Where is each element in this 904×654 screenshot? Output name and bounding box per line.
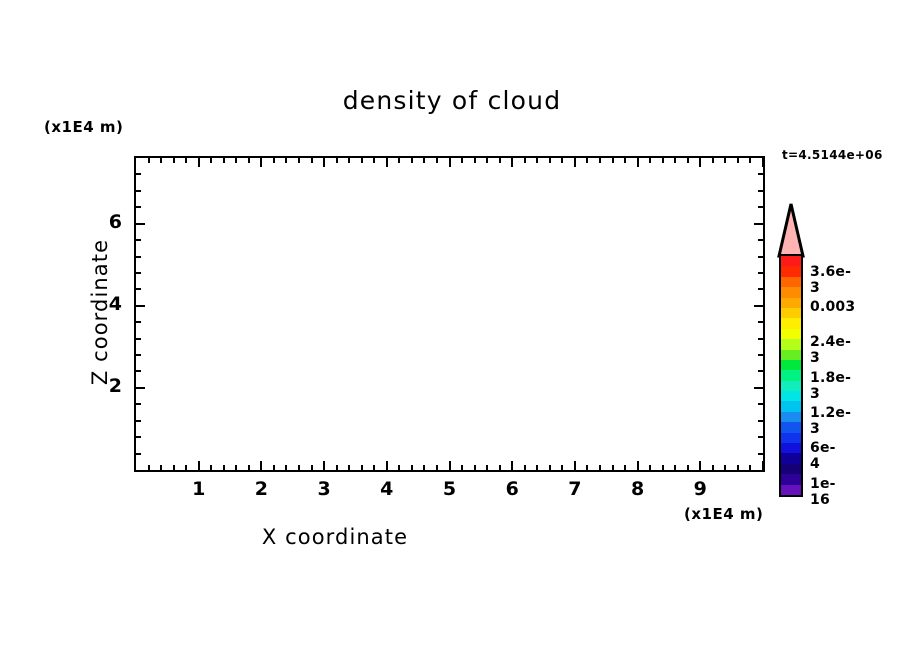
- tick-mark: [136, 305, 145, 307]
- colorbar-band: [781, 474, 801, 484]
- tick-mark: [348, 465, 350, 470]
- tick-mark: [136, 436, 141, 438]
- colorbar-band: [781, 443, 801, 453]
- tick-mark: [423, 158, 425, 163]
- x-tick-label: 5: [430, 478, 470, 500]
- x-axis-unit-label: (x1E4 m): [684, 505, 763, 523]
- x-tick-label: 8: [618, 478, 658, 500]
- tick-mark: [561, 158, 563, 163]
- tick-mark: [758, 436, 763, 438]
- tick-mark: [754, 305, 763, 307]
- tick-mark: [549, 158, 551, 163]
- tick-mark: [624, 158, 626, 163]
- tick-mark: [411, 158, 413, 163]
- colorbar-tick-label: 1.2e-3: [810, 405, 851, 437]
- tick-mark: [185, 158, 187, 163]
- tick-mark: [749, 465, 751, 470]
- y-tick-label: 4: [82, 293, 122, 315]
- figure-canvas: density of cloud (x1E4 m) (x1E4 m) t=4.5…: [0, 0, 904, 654]
- tick-mark: [248, 158, 250, 163]
- x-axis-title: X coordinate: [0, 525, 670, 549]
- colorbar-band: [781, 391, 801, 401]
- tick-mark: [758, 354, 763, 356]
- y-tick-label: 2: [82, 375, 122, 397]
- tick-mark: [758, 370, 763, 372]
- tick-mark: [223, 465, 225, 470]
- tick-mark: [754, 387, 763, 389]
- tick-mark: [173, 158, 175, 163]
- tick-mark: [198, 158, 200, 167]
- colorbar-tick-label: 2.4e-3: [810, 334, 851, 366]
- tick-mark: [758, 453, 763, 455]
- tick-mark: [336, 158, 338, 163]
- tick-mark: [136, 354, 141, 356]
- tick-mark: [724, 158, 726, 163]
- tick-mark: [649, 158, 651, 163]
- tick-mark: [586, 465, 588, 470]
- tick-mark: [687, 158, 689, 163]
- tick-mark: [260, 158, 262, 167]
- tick-mark: [436, 465, 438, 470]
- tick-mark: [136, 223, 145, 225]
- colorbar-band: [781, 277, 801, 287]
- tick-mark: [511, 461, 513, 470]
- tick-mark: [762, 461, 764, 470]
- tick-mark: [185, 465, 187, 470]
- tick-mark: [758, 206, 763, 208]
- tick-mark: [398, 158, 400, 163]
- tick-mark: [285, 158, 287, 163]
- tick-mark: [712, 158, 714, 163]
- tick-mark: [699, 158, 701, 167]
- colorbar-band: [781, 329, 801, 339]
- tick-mark: [260, 461, 262, 470]
- colorbar-tick-label: 3.6e-3: [810, 264, 851, 296]
- tick-mark: [511, 158, 513, 167]
- tick-mark: [148, 158, 150, 163]
- tick-mark: [136, 173, 141, 175]
- tick-mark: [724, 465, 726, 470]
- colorbar-band: [781, 256, 801, 266]
- colorbar-band: [781, 422, 801, 432]
- colorbar-band: [781, 287, 801, 297]
- tick-mark: [136, 453, 141, 455]
- tick-mark: [536, 465, 538, 470]
- x-tick-label: 9: [680, 478, 720, 500]
- tick-mark: [674, 465, 676, 470]
- tick-mark: [210, 465, 212, 470]
- time-annotation: t=4.5144e+06: [782, 148, 883, 162]
- colorbar-band: [781, 350, 801, 360]
- colorbar-band: [781, 485, 801, 495]
- tick-mark: [586, 158, 588, 163]
- x-tick-label: 4: [367, 478, 407, 500]
- tick-mark: [624, 465, 626, 470]
- tick-mark: [173, 465, 175, 470]
- plot-frame: [134, 156, 765, 472]
- colorbar-band: [781, 339, 801, 349]
- colorbar-band: [781, 266, 801, 276]
- tick-mark: [486, 465, 488, 470]
- tick-mark: [136, 190, 141, 192]
- y-axis-unit-label: (x1E4 m): [44, 118, 123, 136]
- tick-mark: [549, 465, 551, 470]
- tick-mark: [311, 465, 313, 470]
- colorbar-band: [781, 308, 801, 318]
- tick-mark: [599, 158, 601, 163]
- tick-mark: [612, 158, 614, 163]
- colorbar-band: [781, 401, 801, 411]
- colorbar-band: [781, 453, 801, 463]
- tick-mark: [373, 465, 375, 470]
- tick-mark: [148, 465, 150, 470]
- tick-mark: [273, 465, 275, 470]
- tick-mark: [561, 465, 563, 470]
- tick-mark: [198, 461, 200, 470]
- tick-mark: [311, 158, 313, 163]
- tick-mark: [599, 465, 601, 470]
- tick-mark: [136, 239, 141, 241]
- tick-mark: [758, 420, 763, 422]
- tick-mark: [758, 338, 763, 340]
- tick-mark: [758, 288, 763, 290]
- tick-mark: [461, 465, 463, 470]
- tick-mark: [699, 461, 701, 470]
- tick-mark: [574, 158, 576, 167]
- x-tick-label: 1: [179, 478, 219, 500]
- colorbar-tick-label: 0.003: [810, 299, 855, 315]
- tick-mark: [674, 158, 676, 163]
- tick-mark: [398, 465, 400, 470]
- tick-mark: [737, 158, 739, 163]
- tick-mark: [235, 465, 237, 470]
- tick-mark: [136, 370, 141, 372]
- colorbar-band: [781, 318, 801, 328]
- tick-mark: [449, 158, 451, 167]
- colorbar-band: [781, 381, 801, 391]
- x-tick-label: 6: [492, 478, 532, 500]
- tick-mark: [637, 158, 639, 167]
- tick-mark: [210, 158, 212, 163]
- x-tick-label: 3: [304, 478, 344, 500]
- tick-mark: [348, 158, 350, 163]
- tick-mark: [662, 158, 664, 163]
- colorbar-band: [781, 298, 801, 308]
- tick-mark: [574, 461, 576, 470]
- tick-mark: [486, 158, 488, 163]
- tick-mark: [758, 173, 763, 175]
- tick-mark: [474, 158, 476, 163]
- tick-mark: [737, 465, 739, 470]
- tick-mark: [223, 158, 225, 163]
- tick-mark: [248, 465, 250, 470]
- tick-mark: [136, 256, 141, 258]
- tick-mark: [637, 461, 639, 470]
- tick-mark: [373, 158, 375, 163]
- tick-mark: [758, 321, 763, 323]
- tick-mark: [323, 461, 325, 470]
- tick-mark: [423, 465, 425, 470]
- tick-mark: [649, 465, 651, 470]
- tick-mark: [323, 158, 325, 167]
- tick-mark: [449, 461, 451, 470]
- tick-mark: [136, 338, 141, 340]
- tick-mark: [758, 403, 763, 405]
- colorbar-band: [781, 370, 801, 380]
- tick-mark: [758, 190, 763, 192]
- tick-mark: [136, 387, 145, 389]
- tick-mark: [136, 288, 141, 290]
- colorbar-tick-label: 1.8e-3: [810, 370, 851, 402]
- tick-mark: [136, 321, 141, 323]
- x-tick-label: 7: [555, 478, 595, 500]
- y-tick-label: 6: [82, 211, 122, 233]
- colorbar-over-arrow-icon: [777, 202, 805, 258]
- tick-mark: [461, 158, 463, 163]
- tick-mark: [612, 465, 614, 470]
- tick-mark: [411, 465, 413, 470]
- colorbar-tick-label: 6e-4: [810, 440, 836, 472]
- tick-mark: [386, 461, 388, 470]
- tick-mark: [160, 158, 162, 163]
- colorbar-band: [781, 360, 801, 370]
- tick-mark: [499, 465, 501, 470]
- tick-mark: [662, 465, 664, 470]
- tick-mark: [524, 158, 526, 163]
- tick-mark: [758, 256, 763, 258]
- x-tick-label: 2: [241, 478, 281, 500]
- colorbar-tick-label: 1e-16: [810, 476, 836, 508]
- tick-mark: [712, 465, 714, 470]
- tick-mark: [298, 158, 300, 163]
- colorbar-band: [781, 464, 801, 474]
- tick-mark: [273, 158, 275, 163]
- tick-mark: [436, 158, 438, 163]
- tick-mark: [762, 158, 764, 167]
- colorbar-bands: [779, 254, 803, 497]
- tick-mark: [136, 206, 141, 208]
- tick-mark: [361, 465, 363, 470]
- tick-mark: [536, 158, 538, 163]
- tick-mark: [160, 465, 162, 470]
- tick-mark: [285, 465, 287, 470]
- tick-mark: [386, 158, 388, 167]
- tick-mark: [235, 158, 237, 163]
- tick-mark: [336, 465, 338, 470]
- tick-mark: [136, 420, 141, 422]
- tick-mark: [749, 158, 751, 163]
- tick-mark: [499, 158, 501, 163]
- tick-mark: [758, 272, 763, 274]
- colorbar-band: [781, 412, 801, 422]
- colorbar-band: [781, 433, 801, 443]
- tick-mark: [361, 158, 363, 163]
- page-title: density of cloud: [0, 86, 904, 115]
- tick-mark: [758, 239, 763, 241]
- tick-mark: [136, 272, 141, 274]
- tick-mark: [754, 223, 763, 225]
- tick-mark: [298, 465, 300, 470]
- tick-mark: [687, 465, 689, 470]
- tick-mark: [136, 403, 141, 405]
- tick-mark: [524, 465, 526, 470]
- tick-mark: [474, 465, 476, 470]
